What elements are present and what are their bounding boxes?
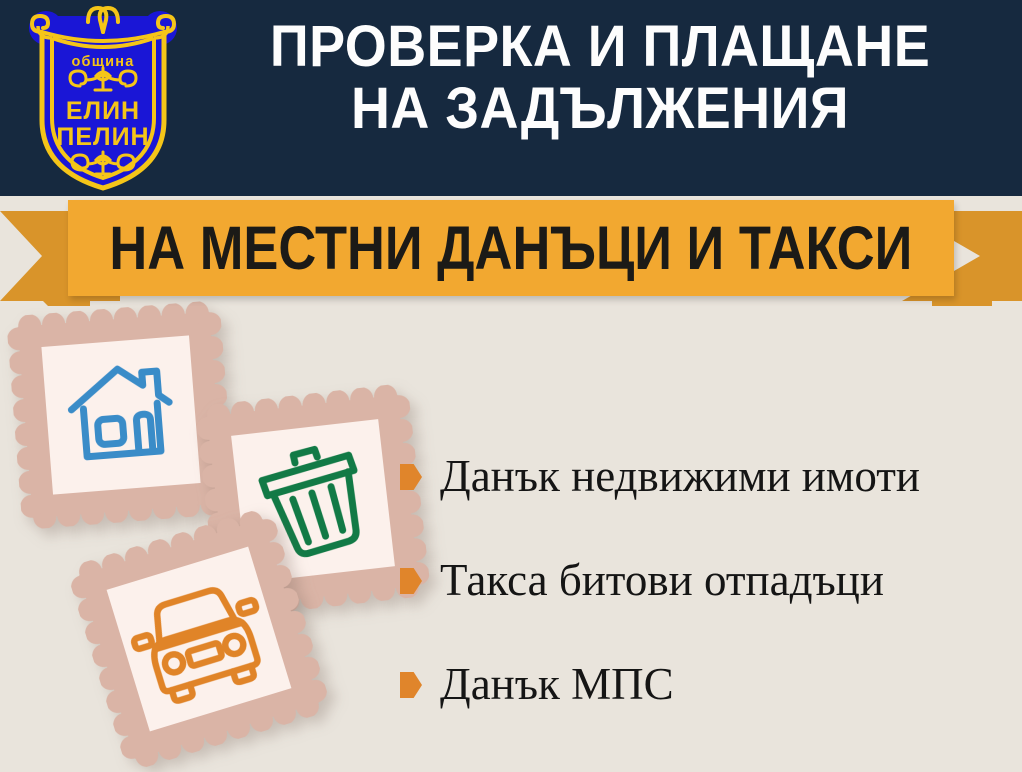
list-item-label: Данък МПС xyxy=(440,659,674,709)
poster-canvas: община ЕЛИН ПЕЛИН xyxy=(0,0,1022,772)
list-item-label: Данък недвижими имоти xyxy=(440,451,920,501)
list-item-label: Такса битови отпадъци xyxy=(440,555,884,605)
ribbon-banner: НА МЕСТНИ ДАНЪЦИ И ТАКСИ xyxy=(68,200,954,296)
list-item: Такса битови отпадъци xyxy=(400,528,1010,632)
poster-title: ПРОВЕРКА И ПЛАЩАНЕ НА ЗАДЪЛЖЕНИЯ xyxy=(190,16,1010,140)
title-line-2: НА ЗАДЪЛЖЕНИЯ xyxy=(219,78,982,140)
municipality-crest-logo: община ЕЛИН ПЕЛИН xyxy=(18,2,188,194)
bullet-arrow-icon xyxy=(400,568,422,594)
stamp-inner-panel xyxy=(41,335,200,494)
list-item: Данък МПС xyxy=(400,632,1010,736)
tax-types-list: Данък недвижими имоти Такса битови отпад… xyxy=(400,424,1010,736)
title-line-1: ПРОВЕРКА И ПЛАЩАНЕ xyxy=(219,16,982,78)
bullet-arrow-icon xyxy=(400,464,422,490)
bullet-arrow-icon xyxy=(400,672,422,698)
subtitle-ribbon: НА МЕСТНИ ДАНЪЦИ И ТАКСИ xyxy=(0,196,1022,316)
crest-name-line2: ПЕЛИН xyxy=(56,123,149,151)
list-item: Данък недвижими имоти xyxy=(400,424,1010,528)
header-bar: община ЕЛИН ПЕЛИН xyxy=(0,0,1022,196)
crest-name-line1: ЕЛИН xyxy=(66,97,140,125)
ribbon-text: НА МЕСТНИ ДАНЪЦИ И ТАКСИ xyxy=(109,217,912,279)
